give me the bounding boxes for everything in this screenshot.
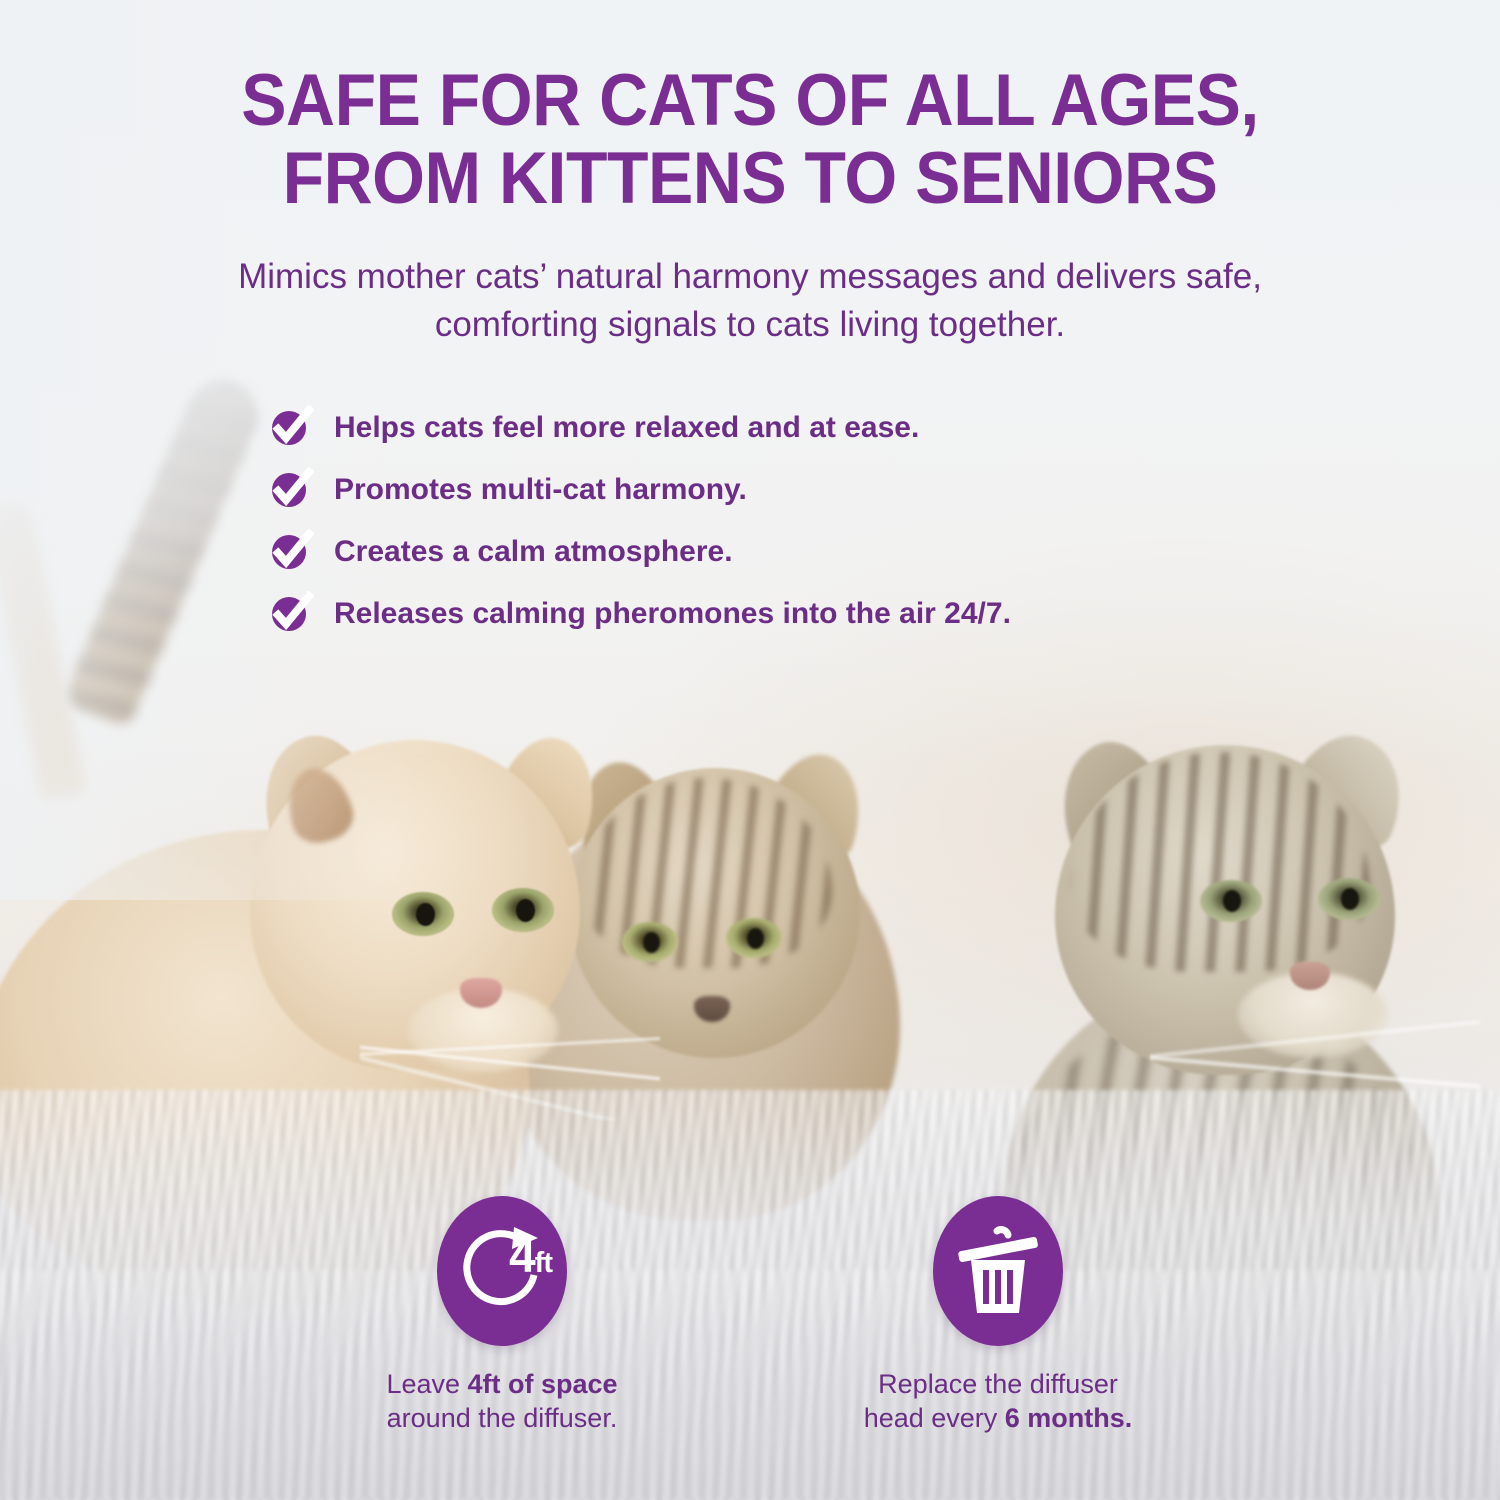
spacing-value-unit: ft [535, 1247, 552, 1279]
spacing-caption-prefix: Leave [386, 1369, 467, 1399]
replacement-caption-prefix: head every [864, 1403, 1005, 1433]
usage-tips: 4ft Leave 4ft of space around the diffus… [0, 1196, 1500, 1436]
usage-tip-replacement: Replace the diffuser head every 6 months… [848, 1196, 1148, 1436]
benefits-list: Helps cats feel more relaxed and at ease… [272, 402, 1172, 650]
check-circle-icon [272, 597, 306, 631]
replacement-caption-bold: 6 months. [1005, 1403, 1133, 1433]
check-circle-icon [272, 473, 306, 507]
list-item-label: Promotes multi-cat harmony. [334, 473, 747, 507]
list-item: Creates a calm atmosphere. [272, 526, 1172, 577]
subtitle: Mimics mother cats’ natural harmony mess… [150, 253, 1350, 348]
trash-can-icon [952, 1220, 1044, 1323]
poster-content: SAFE FOR CATS OF ALL AGES, FROM KITTENS … [0, 0, 1500, 1500]
spacing-value-number: 4 [509, 1230, 535, 1283]
page-title: SAFE FOR CATS OF ALL AGES, FROM KITTENS … [53, 62, 1448, 218]
product-feature-poster: SAFE FOR CATS OF ALL AGES, FROM KITTENS … [0, 0, 1500, 1500]
usage-tip-spacing: 4ft Leave 4ft of space around the diffus… [352, 1196, 652, 1436]
spacing-caption-line-2: around the diffuser. [352, 1402, 652, 1436]
replacement-badge-circle [933, 1196, 1063, 1346]
spacing-badge-circle: 4ft [437, 1196, 567, 1346]
check-circle-icon [272, 411, 306, 445]
list-item: Promotes multi-cat harmony. [272, 464, 1172, 515]
headline-line-1: SAFE FOR CATS OF ALL AGES, [53, 62, 1448, 140]
list-item-label: Releases calming pheromones into the air… [334, 597, 1011, 631]
list-item: Helps cats feel more relaxed and at ease… [272, 402, 1172, 453]
list-item-label: Helps cats feel more relaxed and at ease… [334, 411, 919, 445]
list-item: Releases calming pheromones into the air… [272, 588, 1172, 639]
spacing-value: 4ft [509, 1233, 552, 1281]
circular-arrow-icon: 4ft [450, 1219, 554, 1323]
subtitle-line-1: Mimics mother cats’ natural harmony mess… [150, 253, 1350, 301]
replacement-caption-line-1: Replace the diffuser [848, 1368, 1148, 1402]
spacing-caption-bold: 4ft of space [468, 1369, 618, 1399]
spacing-caption: Leave 4ft of space around the diffuser. [352, 1368, 652, 1436]
list-item-label: Creates a calm atmosphere. [334, 535, 733, 569]
replacement-caption-line-2: head every 6 months. [848, 1402, 1148, 1436]
headline-line-2: FROM KITTENS TO SENIORS [53, 140, 1448, 218]
spacing-caption-line-1: Leave 4ft of space [352, 1368, 652, 1402]
check-circle-icon [272, 535, 306, 569]
replacement-caption: Replace the diffuser head every 6 months… [848, 1368, 1148, 1436]
subtitle-line-2: comforting signals to cats living togeth… [150, 301, 1350, 349]
